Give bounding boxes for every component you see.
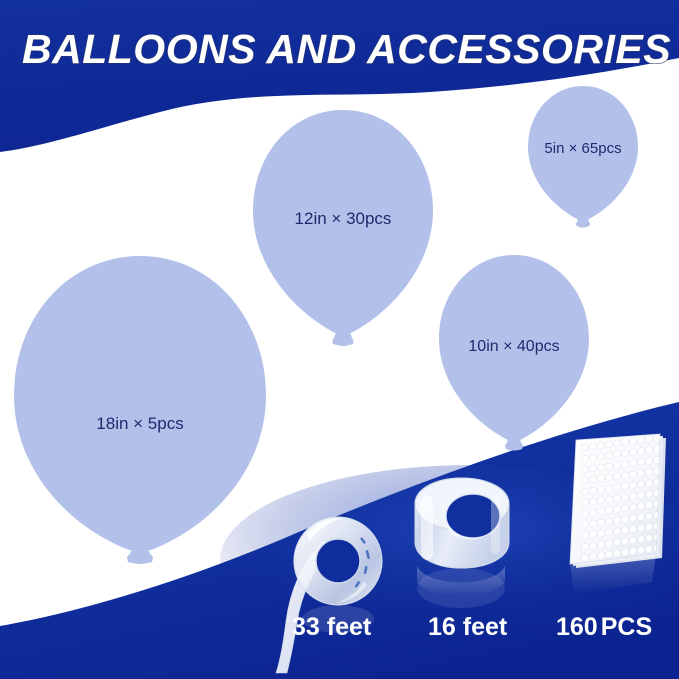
glue-dots-icon xyxy=(548,432,670,607)
tape-roll-caption: 33 feet xyxy=(292,613,371,642)
glue-dots-sheet xyxy=(548,432,670,607)
glue-dots-caption: 160PCS xyxy=(556,613,652,642)
glue-dots-count: 160 xyxy=(556,613,598,641)
tape-roll-icon xyxy=(272,495,402,675)
tape-ring-icon xyxy=(405,470,525,620)
balloon-10in-label: 10in × 40pcs xyxy=(468,338,559,356)
balloon-18in: 18in × 5pcs xyxy=(4,248,276,568)
balloon-5in-label: 5in × 65pcs xyxy=(544,140,621,157)
glue-dots-unit: PCS xyxy=(601,613,652,641)
balloon-18in-label: 18in × 5pcs xyxy=(96,414,183,434)
tape-ring-caption: 16 feet xyxy=(428,613,507,642)
product-poster: BALLOONS AND ACCESSORIES 18in × 5pcs 12i… xyxy=(0,0,679,679)
tape-roll xyxy=(272,495,402,675)
tape-ring xyxy=(405,470,525,620)
balloon-18in-shape xyxy=(4,248,276,568)
balloon-10in: 10in × 40pcs xyxy=(434,250,594,455)
balloon-5in: 5in × 65pcs xyxy=(524,82,642,230)
balloon-12in: 12in × 30pcs xyxy=(247,104,439,352)
balloon-12in-label: 12in × 30pcs xyxy=(295,209,392,229)
